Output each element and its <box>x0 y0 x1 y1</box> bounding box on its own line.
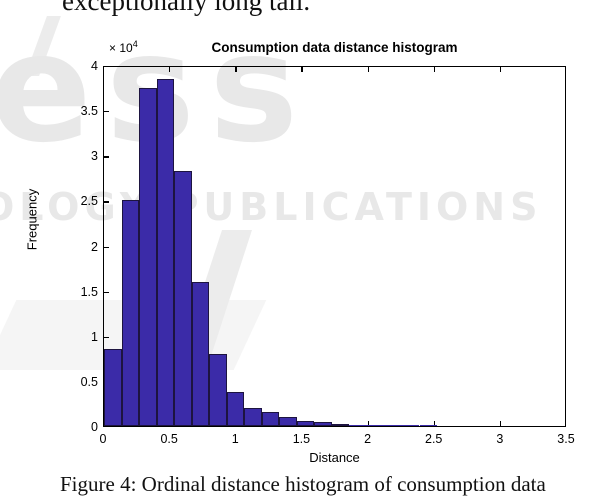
histogram-bar <box>384 425 402 426</box>
histogram-bar <box>332 424 350 426</box>
x-axis-tick-label: 2.5 <box>425 432 442 446</box>
x-axis-tick-label: 0 <box>100 432 107 446</box>
histogram-bar <box>104 349 122 426</box>
histogram-bar <box>192 282 210 426</box>
histogram-bar <box>227 392 245 426</box>
y-axis-label: Frequency <box>25 160 40 280</box>
histogram-figure: × 104 Consumption data distance histogra… <box>0 0 608 470</box>
histogram-bar <box>279 417 297 426</box>
body-text-above-figure: exceptionally long tail. <box>62 0 310 17</box>
histogram-bar <box>174 171 192 426</box>
plot-area <box>103 66 566 427</box>
histogram-bar <box>139 88 157 426</box>
histogram-bar <box>420 425 438 426</box>
histogram-bar <box>314 422 332 426</box>
histogram-bar <box>244 408 262 426</box>
x-axis-tick-label: 3.5 <box>557 432 574 446</box>
x-axis-tick-label: 2 <box>364 432 371 446</box>
histogram-bars <box>104 67 565 426</box>
histogram-bar <box>297 421 315 426</box>
x-axis-tick-label: 3 <box>496 432 503 446</box>
histogram-bar <box>367 425 385 426</box>
histogram-bar <box>122 200 140 426</box>
histogram-bar <box>349 425 367 426</box>
figure-page: ess OLOGY PUBLICATIONS exceptionally lon… <box>0 0 608 496</box>
x-axis-label: Distance <box>103 450 566 465</box>
x-axis-tick-label: 1 <box>232 432 239 446</box>
histogram-bar <box>157 79 175 426</box>
x-axis-tick-label: 1.5 <box>293 432 310 446</box>
figure-caption: Figure 4: Ordinal distance histogram of … <box>60 472 546 496</box>
histogram-bar <box>209 354 227 426</box>
x-axis-tick-label: 0.5 <box>160 432 177 446</box>
histogram-bar <box>402 425 420 426</box>
histogram-bar <box>262 412 280 426</box>
